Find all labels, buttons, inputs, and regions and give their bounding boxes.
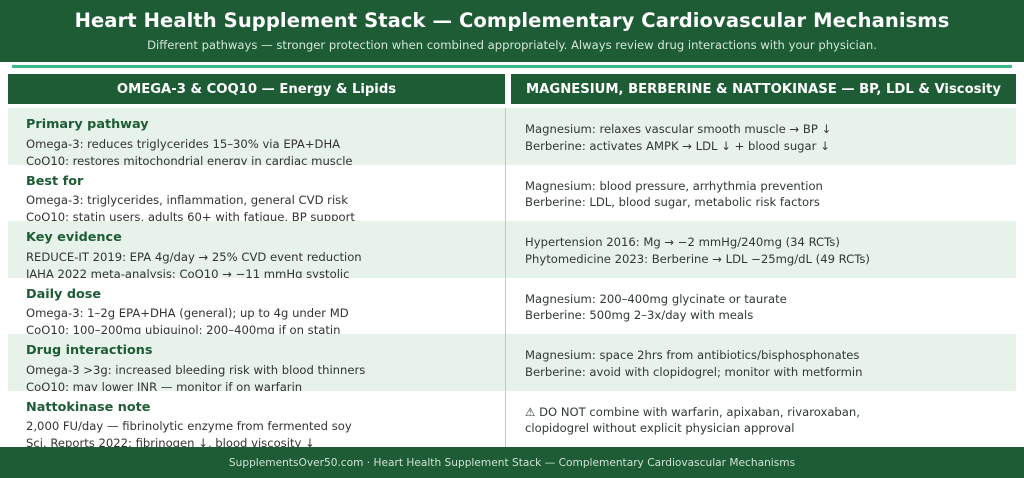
footer-text: SupplementsOver50.com · Heart Health Sup… — [229, 457, 795, 469]
cell-left: Best for Omega-3: triglycerides, inflamm… — [8, 165, 505, 222]
cell-right: Hypertension 2016: Mg → −2 mmHg/240mg (3… — [505, 221, 1016, 278]
accent-divider — [12, 65, 1012, 68]
cell-line: Omega-3: triglycerides, inflammation, ge… — [26, 192, 505, 209]
table-row: Nattokinase note 2,000 FU/day — fibrinol… — [8, 391, 1016, 448]
cell-line: Omega-3: reduces triglycerides 15–30% vi… — [26, 136, 505, 153]
cell-line: Magnesium: relaxes vascular smooth muscl… — [525, 121, 1016, 138]
cell-line: Hypertension 2016: Mg → −2 mmHg/240mg (3… — [525, 234, 1016, 251]
cell-left: Primary pathway Omega-3: reduces triglyc… — [8, 108, 505, 165]
warning-line: ⚠ DO NOT combine with warfarin, apixaban… — [525, 404, 1016, 421]
cell-line: Magnesium: blood pressure, arrhythmia pr… — [525, 178, 1016, 195]
cell-line: CoQ10: statin users, adults 60+ with fat… — [26, 209, 505, 221]
page-subtitle: Different pathways — stronger protection… — [147, 38, 877, 52]
footer-bar: SupplementsOver50.com · Heart Health Sup… — [0, 447, 1024, 478]
cell-right: ⚠ DO NOT combine with warfarin, apixaban… — [505, 391, 1016, 448]
header-banner: Heart Health Supplement Stack — Compleme… — [0, 0, 1024, 62]
cell-line: Berberine: avoid with clopidogrel; monit… — [525, 364, 1016, 381]
cell-line: 2,000 FU/day — fibrinolytic enzyme from … — [26, 418, 505, 435]
cell-title: Nattokinase note — [26, 400, 505, 416]
cell-title: Primary pathway — [26, 117, 505, 133]
cell-line: REDUCE-IT 2019: EPA 4g/day → 25% CVD eve… — [26, 249, 505, 266]
cell-right: Magnesium: relaxes vascular smooth muscl… — [505, 108, 1016, 165]
cell-title: Drug interactions — [26, 343, 505, 359]
cell-line: Magnesium: space 2hrs from antibiotics/b… — [525, 347, 1016, 364]
column-header-left: OMEGA-3 & COQ10 — Energy & Lipids — [8, 74, 505, 104]
cell-line: Omega-3: 1–2g EPA+DHA (general); up to 4… — [26, 305, 505, 322]
cell-line: CoQ10: restores mitochondrial energy in … — [26, 153, 505, 165]
table-row: Daily dose Omega-3: 1–2g EPA+DHA (genera… — [8, 278, 1016, 335]
cell-right: Magnesium: blood pressure, arrhythmia pr… — [505, 165, 1016, 222]
cell-title: Best for — [26, 174, 505, 190]
cell-right: Magnesium: 200–400mg glycinate or taurat… — [505, 278, 1016, 335]
cell-line: JAHA 2022 meta-analysis: CoQ10 → −11 mmH… — [26, 266, 505, 278]
table-body: Primary pathway Omega-3: reduces triglyc… — [8, 108, 1016, 447]
table-row: Key evidence REDUCE-IT 2019: EPA 4g/day … — [8, 221, 1016, 278]
infographic-table: Heart Health Supplement Stack — Compleme… — [0, 0, 1024, 478]
table-row: Primary pathway Omega-3: reduces triglyc… — [8, 108, 1016, 165]
cell-title: Key evidence — [26, 230, 505, 246]
cell-line: CoQ10: may lower INR — monitor if on war… — [26, 379, 505, 391]
cell-line: Berberine: activates AMPK → LDL ↓ + bloo… — [525, 138, 1016, 155]
cell-left: Daily dose Omega-3: 1–2g EPA+DHA (genera… — [8, 278, 505, 335]
cell-line: clopidogrel without explicit physician a… — [525, 420, 1016, 437]
cell-left: Key evidence REDUCE-IT 2019: EPA 4g/day … — [8, 221, 505, 278]
cell-title: Daily dose — [26, 287, 505, 303]
cell-left: Nattokinase note 2,000 FU/day — fibrinol… — [8, 391, 505, 448]
table-row: Best for Omega-3: triglycerides, inflamm… — [8, 165, 1016, 222]
table-row: Drug interactions Omega-3 >3g: increased… — [8, 334, 1016, 391]
cell-line: Omega-3 >3g: increased bleeding risk wit… — [26, 362, 505, 379]
column-header-right: MAGNESIUM, BERBERINE & NATTOKINASE — BP,… — [511, 74, 1016, 104]
cell-line: Sci. Reports 2022: fibrinogen ↓, blood v… — [26, 435, 505, 447]
page-title: Heart Health Supplement Stack — Compleme… — [75, 10, 950, 32]
cell-line: CoQ10: 100–200mg ubiquinol; 200–400mg if… — [26, 322, 505, 334]
column-headers: OMEGA-3 & COQ10 — Energy & Lipids MAGNES… — [8, 74, 1016, 104]
cell-line: Berberine: LDL, blood sugar, metabolic r… — [525, 194, 1016, 211]
cell-line: Magnesium: 200–400mg glycinate or taurat… — [525, 291, 1016, 308]
cell-right: Magnesium: space 2hrs from antibiotics/b… — [505, 334, 1016, 391]
cell-left: Drug interactions Omega-3 >3g: increased… — [8, 334, 505, 391]
cell-line: Phytomedicine 2023: Berberine → LDL −25m… — [525, 251, 1016, 268]
cell-line: Berberine: 500mg 2–3x/day with meals — [525, 307, 1016, 324]
